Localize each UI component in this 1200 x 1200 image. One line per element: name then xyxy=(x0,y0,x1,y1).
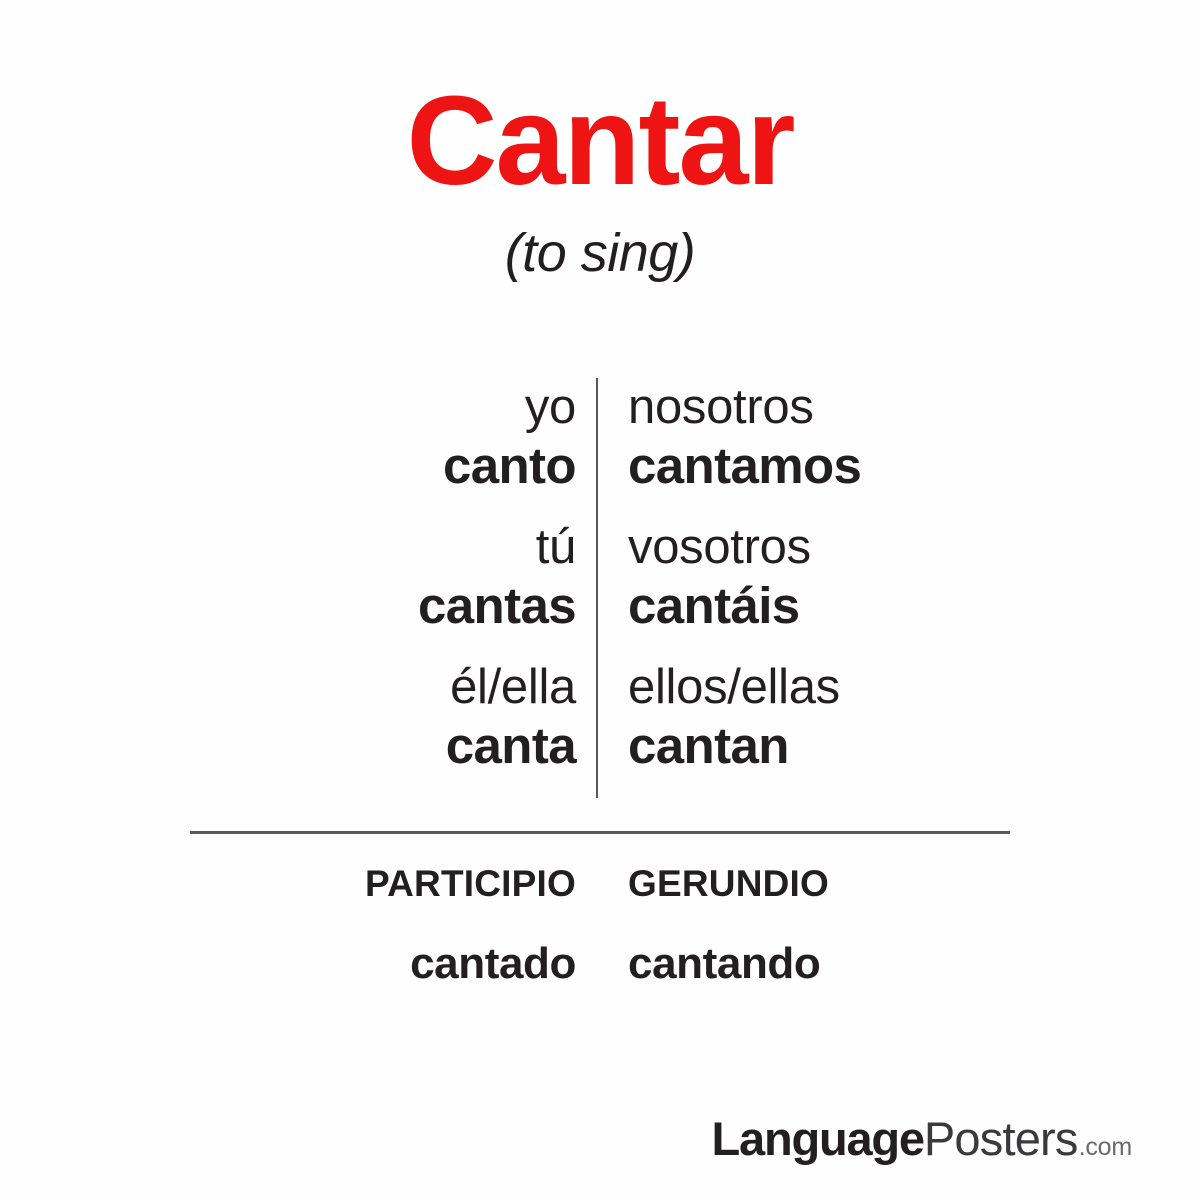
conjugated-form: cantáis xyxy=(628,576,800,636)
logo-tld-text: .com xyxy=(1079,1135,1132,1160)
participle-value: cantado xyxy=(410,938,576,990)
table-row: tú cantas vosotros cantáis xyxy=(0,518,1200,658)
conjugation-cell-plural: ellos/ellas cantan xyxy=(598,658,1196,798)
pronoun-label: yo xyxy=(525,378,576,436)
conjugation-cell-singular: él/ella canta xyxy=(0,658,598,798)
conjugated-form: canta xyxy=(446,716,576,776)
pronoun-label: él/ella xyxy=(450,658,576,716)
conjugated-form: cantan xyxy=(628,716,789,776)
pronoun-label: vosotros xyxy=(628,518,811,576)
conjugated-form: cantamos xyxy=(628,436,861,496)
logo-primary-text: Language xyxy=(712,1115,924,1162)
brand-logo[interactable]: LanguagePosters.com xyxy=(712,1115,1133,1162)
participle-label: PARTICIPIO xyxy=(365,862,576,906)
section-divider xyxy=(190,831,1010,834)
conjugation-rows: yo canto nosotros cantamos tú cantas vos… xyxy=(0,378,1200,798)
poster-canvas: Cantar (to sing) yo canto nosotros canta… xyxy=(0,0,1200,1200)
pronoun-label: ellos/ellas xyxy=(628,658,840,716)
pronoun-label: nosotros xyxy=(628,378,814,436)
gerund-label: GERUNDIO xyxy=(628,862,829,906)
poster-header: Cantar (to sing) xyxy=(0,78,1200,280)
conjugation-cell-plural: vosotros cantáis xyxy=(598,518,1196,658)
verb-translation: (to sing) xyxy=(0,226,1200,280)
conjugated-form: cantas xyxy=(418,576,576,636)
pronoun-label: tú xyxy=(536,518,576,576)
conjugated-form: canto xyxy=(443,436,576,496)
table-row: él/ella canta ellos/ellas cantan xyxy=(0,658,1200,798)
conjugation-cell-singular: yo canto xyxy=(0,378,598,518)
conjugation-table: yo canto nosotros cantamos tú cantas vos… xyxy=(0,378,1200,798)
verb-title: Cantar xyxy=(0,78,1200,204)
conjugation-cell-singular: tú cantas xyxy=(0,518,598,658)
gerund-value: cantando xyxy=(628,938,820,990)
table-row: yo canto nosotros cantamos xyxy=(0,378,1200,518)
gerund-cell: GERUNDIO cantando xyxy=(598,862,1196,990)
conjugation-cell-plural: nosotros cantamos xyxy=(598,378,1196,518)
logo-secondary-text: Posters xyxy=(924,1115,1078,1162)
nonfinite-forms-section: PARTICIPIO cantado GERUNDIO cantando xyxy=(0,862,1200,990)
participle-cell: PARTICIPIO cantado xyxy=(0,862,598,990)
